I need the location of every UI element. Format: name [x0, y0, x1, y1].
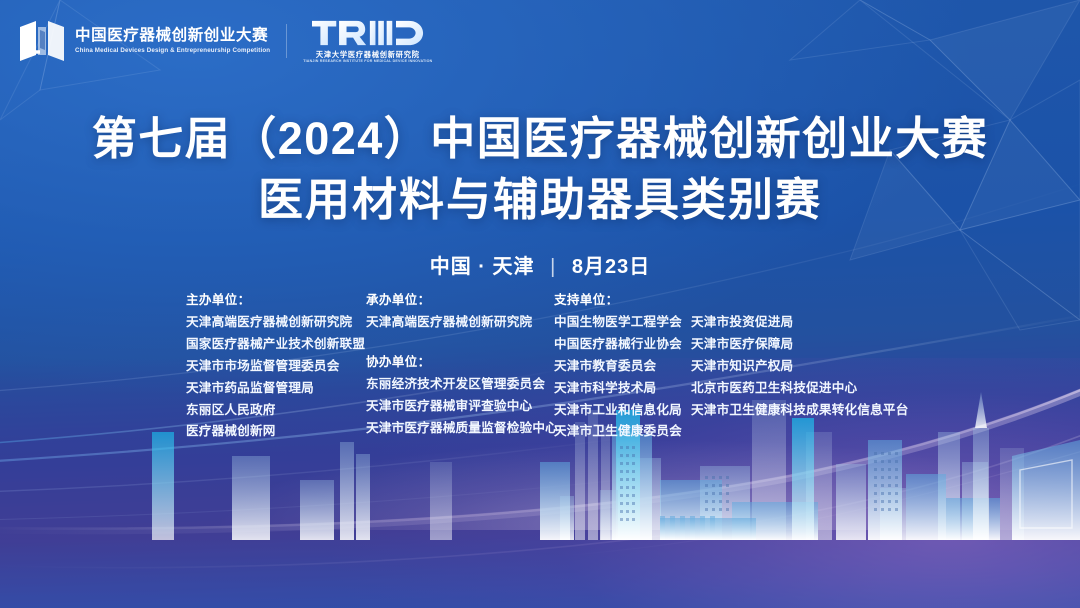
organizer-item: 中国生物医学工程学会	[554, 312, 691, 334]
organizer-item: 北京市医药卫生科技促进中心	[691, 378, 909, 400]
organizer-column-support-a: 支持单位： 中国生物医学工程学会 中国医疗器械行业协会 天津市教育委员会 天津市…	[554, 290, 691, 443]
page-title-line2: 医用材料与辅助器具类别赛	[0, 173, 1080, 228]
logo-cmdc-english: China Medical Devices Design & Entrepren…	[75, 48, 270, 54]
logo-trimd-chinese: 天津大学医疗器械创新研究院	[316, 51, 420, 58]
organizer-item: 天津市科学技术局	[554, 378, 691, 400]
event-date: 8月23日	[572, 256, 650, 278]
organizer-heading: 主办单位：	[186, 290, 366, 312]
organizer-item: 天津市卫生健康委员会	[554, 421, 691, 443]
meta-separator: |	[550, 256, 556, 279]
organizer-item: 东丽经济技术开发区管理委员会	[366, 374, 554, 396]
organizer-item: 天津高端医疗器械创新研究院	[186, 312, 366, 334]
event-meta: 中国 · 天津 | 8月23日	[0, 250, 1080, 279]
organizer-column-organizer: 承办单位： 天津高端医疗器械创新研究院 协办单位： 东丽经济技术开发区管理委员会…	[366, 290, 554, 439]
logo-divider	[286, 24, 287, 58]
organizer-item: 东丽区人民政府	[186, 400, 366, 422]
trimd-wordmark-icon	[312, 19, 424, 47]
organizers-section: 主办单位： 天津高端医疗器械创新研究院 国家医疗器械产业技术创新联盟 天津市市场…	[186, 290, 909, 443]
logo-trimd-english: TIANJIN RESEARCH INSTITUTE FOR MEDICAL D…	[303, 60, 432, 64]
open-book-door-icon	[18, 18, 66, 64]
header-logos: 中国医疗器械创新创业大赛 China Medical Devices Desig…	[18, 18, 432, 64]
column-spacer-head	[691, 290, 909, 312]
organizer-item: 天津市医疗保障局	[691, 334, 909, 356]
logo-cmdc-text: 中国医疗器械创新创业大赛 China Medical Devices Desig…	[75, 28, 270, 54]
organizer-heading: 支持单位：	[554, 290, 691, 312]
organizer-item: 医疗器械创新网	[186, 421, 366, 443]
poster-root: 中国医疗器械创新创业大赛 China Medical Devices Desig…	[0, 0, 1080, 608]
column-spacer	[366, 334, 554, 352]
organizer-heading: 协办单位：	[366, 352, 554, 374]
event-location: 中国 · 天津	[430, 256, 535, 278]
logo-cmdc[interactable]: 中国医疗器械创新创业大赛 China Medical Devices Desig…	[18, 18, 270, 64]
logo-cmdc-chinese: 中国医疗器械创新创业大赛	[75, 28, 270, 44]
page-title-line1: 第七届（2024）中国医疗器械创新创业大赛	[0, 112, 1080, 167]
organizer-item: 国家医疗器械产业技术创新联盟	[186, 334, 366, 356]
logo-trimd[interactable]: 天津大学医疗器械创新研究院 TIANJIN RESEARCH INSTITUTE…	[303, 19, 432, 64]
title-block: 第七届（2024）中国医疗器械创新创业大赛 医用材料与辅助器具类别赛 中国 · …	[0, 112, 1080, 279]
organizer-item: 天津市教育委员会	[554, 356, 691, 378]
organizer-item: 天津市投资促进局	[691, 312, 909, 334]
organizer-item: 天津高端医疗器械创新研究院	[366, 312, 554, 334]
organizer-item: 中国医疗器械行业协会	[554, 334, 691, 356]
organizer-item: 天津市药品监督管理局	[186, 378, 366, 400]
organizer-item: 天津市知识产权局	[691, 356, 909, 378]
organizer-item: 天津市医疗器械质量监督检验中心	[366, 418, 554, 440]
organizer-column-host: 主办单位： 天津高端医疗器械创新研究院 国家医疗器械产业技术创新联盟 天津市市场…	[186, 290, 366, 443]
organizer-item: 天津市工业和信息化局	[554, 400, 691, 422]
organizer-item: 天津市市场监督管理委员会	[186, 356, 366, 378]
organizer-item: 天津市医疗器械审评查验中心	[366, 396, 554, 418]
organizer-column-support-b: 天津市投资促进局 天津市医疗保障局 天津市知识产权局 北京市医药卫生科技促进中心…	[691, 290, 909, 421]
organizer-heading: 承办单位：	[366, 290, 554, 312]
organizer-item: 天津市卫生健康科技成果转化信息平台	[691, 400, 909, 422]
